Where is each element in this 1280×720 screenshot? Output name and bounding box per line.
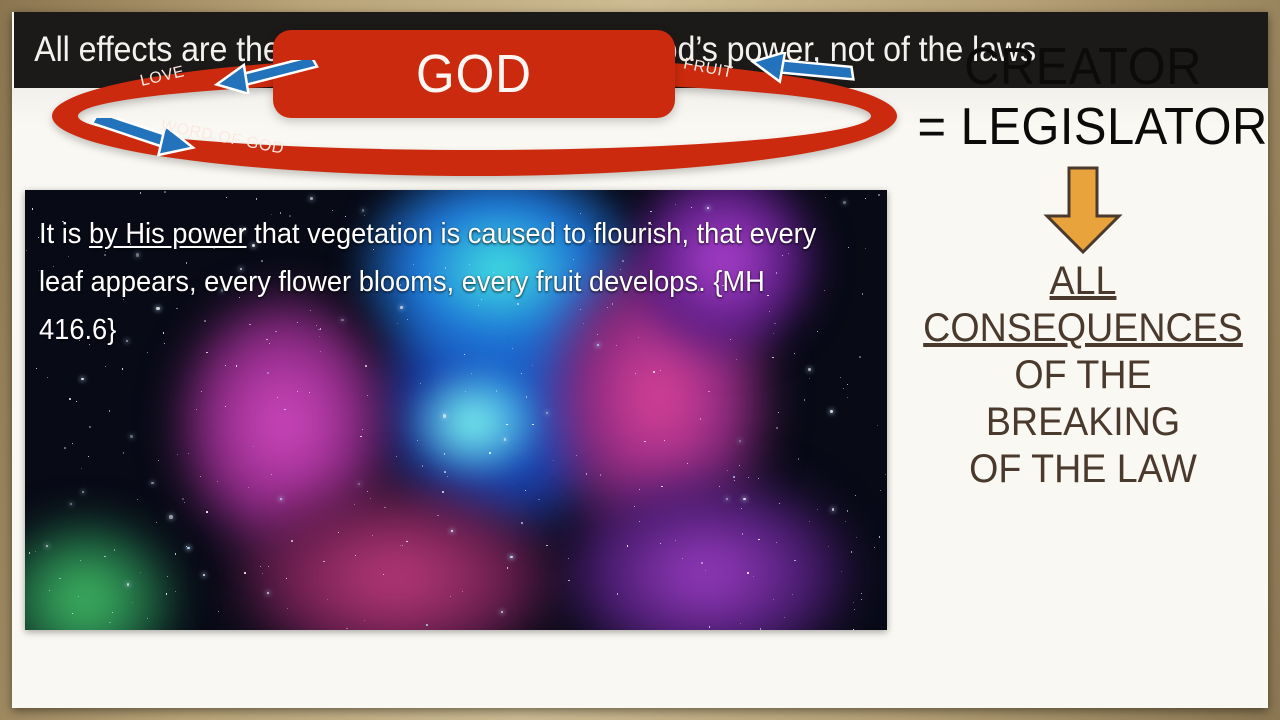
consequences-line3: OF THE BREAKING bbox=[986, 353, 1180, 444]
cycle-diagram: GOD LOVE FRUIT WORD OF GOD bbox=[30, 24, 900, 192]
consequences-text: ALL CONSEQUENCES OF THE BREAKING OF THE … bbox=[918, 258, 1249, 493]
down-arrow-icon bbox=[1033, 164, 1133, 256]
consequences-all: ALL bbox=[1050, 259, 1117, 303]
slide: All effects are therefore a consequence … bbox=[12, 12, 1268, 708]
fruit-arrow bbox=[742, 52, 858, 90]
nebula-quote-card: It is by His power that vegetation is ca… bbox=[25, 190, 887, 630]
quote-emphasis: by His power bbox=[89, 218, 247, 250]
god-box: GOD bbox=[273, 30, 675, 118]
consequences-word: CONSEQUENCES bbox=[923, 306, 1243, 350]
quote-text: It is by His power that vegetation is ca… bbox=[39, 210, 825, 354]
god-label: GOD bbox=[416, 43, 532, 105]
love-arrow bbox=[206, 60, 322, 94]
quote-lead: It is bbox=[39, 218, 89, 250]
right-column: CREATOR = LEGISLATOR ALL CONSEQUENCES OF… bbox=[907, 24, 1259, 624]
creator-heading: CREATOR bbox=[918, 38, 1249, 96]
legislator-heading: = LEGISLATOR bbox=[918, 96, 1249, 158]
consequences-line4: OF THE LAW bbox=[969, 447, 1197, 491]
